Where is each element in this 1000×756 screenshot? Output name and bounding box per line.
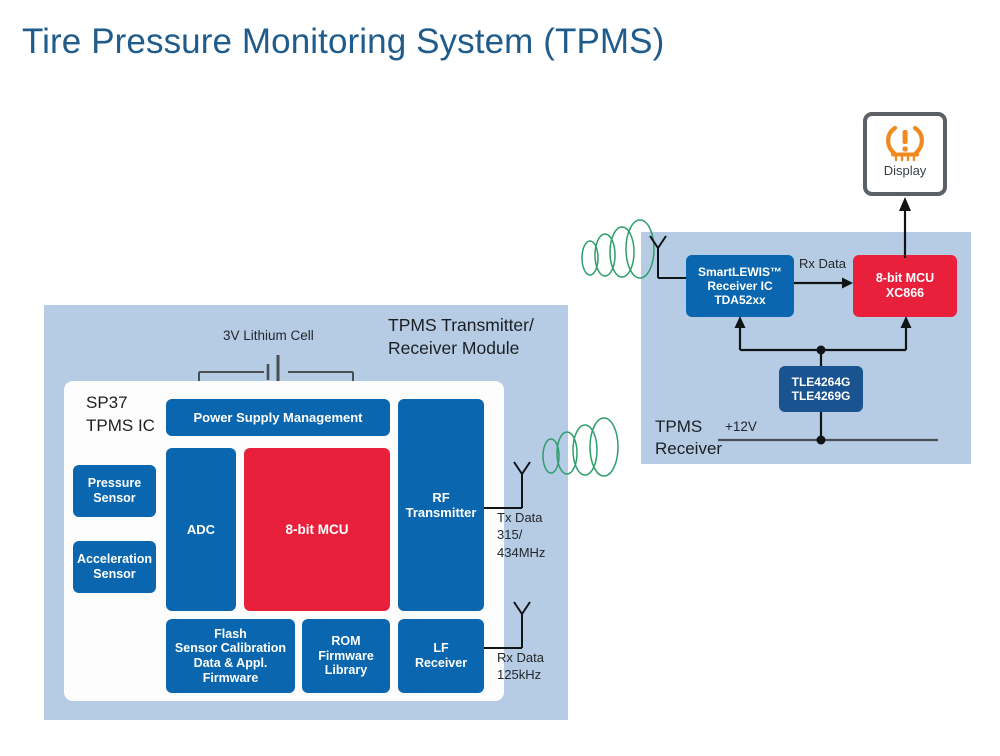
power-supply-label: Power Supply Management bbox=[193, 410, 362, 425]
sp37-label-line-1: SP37 bbox=[86, 392, 155, 415]
page-title: Tire Pressure Monitoring System (TPMS) bbox=[22, 22, 664, 62]
tx-data-line-3: 434MHz bbox=[497, 544, 545, 561]
block-power-supply-management[interactable]: Power Supply Management bbox=[166, 399, 390, 436]
sp37-label-line-2: TPMS IC bbox=[86, 415, 155, 438]
tx-data-line-1: Tx Data bbox=[497, 509, 545, 526]
receiver-antenna-icon bbox=[642, 232, 688, 290]
rom-line-2: Firmware bbox=[318, 649, 374, 664]
rx-data-line-1: Rx Data bbox=[497, 649, 544, 666]
rx-data-arrow-label: Rx Data bbox=[799, 256, 846, 272]
rx-data-line-2: 125kHz bbox=[497, 666, 544, 683]
tx-data-label: Tx Data 315/ 434MHz bbox=[497, 509, 545, 561]
block-transmitter-mcu[interactable]: 8-bit MCU bbox=[244, 448, 390, 611]
tx-data-line-2: 315/ bbox=[497, 526, 545, 543]
receiver-title-line-1: TPMS bbox=[655, 416, 722, 438]
sp37-ic-label: SP37 TPMS IC bbox=[86, 392, 155, 438]
smartlewis-line-3: TDA52xx bbox=[714, 293, 765, 307]
acceleration-sensor-line-2: Sensor bbox=[93, 567, 135, 582]
battery-label: 3V Lithium Cell bbox=[223, 328, 314, 345]
block-smartlewis-receiver-ic[interactable]: SmartLEWIS™ Receiver IC TDA52xx bbox=[686, 255, 794, 317]
display-box[interactable]: Display bbox=[863, 112, 947, 196]
receiver-panel-title: TPMS Receiver bbox=[655, 416, 722, 460]
rf-transmitter-line-2: Transmitter bbox=[406, 505, 477, 520]
flash-line-2: Sensor Calibration bbox=[175, 641, 286, 656]
acceleration-sensor-line-1: Acceleration bbox=[77, 552, 152, 567]
rx-data-label: Rx Data 125kHz bbox=[497, 649, 544, 684]
rf-transmitter-line-1: RF bbox=[432, 490, 449, 505]
rom-line-1: ROM bbox=[331, 634, 360, 649]
lithium-cell-icon bbox=[198, 352, 354, 384]
rx-data-arrow-icon bbox=[794, 276, 854, 290]
adc-label: ADC bbox=[187, 522, 215, 537]
pressure-sensor-line-1: Pressure bbox=[88, 476, 142, 491]
block-flash-memory[interactable]: Flash Sensor Calibration Data & Appl. Fi… bbox=[166, 619, 295, 693]
transmitter-title-line-1: TPMS Transmitter/ bbox=[388, 314, 534, 337]
flash-line-3: Data & Appl. bbox=[194, 656, 268, 671]
pressure-sensor-line-2: Sensor bbox=[93, 491, 135, 506]
smartlewis-line-2: Receiver IC bbox=[707, 279, 772, 293]
block-rom-firmware-library[interactable]: ROM Firmware Library bbox=[302, 619, 390, 693]
flash-line-4: Firmware bbox=[203, 671, 259, 686]
receiver-mcu-line-2: XC866 bbox=[886, 286, 924, 301]
mcu-to-display-arrow-icon bbox=[898, 196, 912, 258]
block-rf-transmitter[interactable]: RF Transmitter bbox=[398, 399, 484, 611]
transmitter-mcu-label: 8-bit MCU bbox=[286, 522, 349, 538]
receiver-mcu-line-1: 8-bit MCU bbox=[876, 271, 934, 286]
receiver-title-line-2: Receiver bbox=[655, 438, 722, 460]
block-adc[interactable]: ADC bbox=[166, 448, 236, 611]
block-acceleration-sensor[interactable]: Acceleration Sensor bbox=[73, 541, 156, 593]
transmitter-title-line-2: Receiver Module bbox=[388, 337, 534, 360]
lf-receiver-line-2: Receiver bbox=[415, 656, 467, 671]
flash-line-1: Flash bbox=[214, 627, 247, 642]
rom-line-3: Library bbox=[325, 663, 367, 678]
receiver-supply-label: +12V bbox=[725, 419, 757, 436]
lf-receiver-line-1: LF bbox=[433, 641, 448, 656]
block-lf-receiver[interactable]: LF Receiver bbox=[398, 619, 484, 693]
diagram-canvas: Tire Pressure Monitoring System (TPMS) S… bbox=[0, 0, 1000, 756]
smartlewis-line-1: SmartLEWIS™ bbox=[698, 265, 782, 279]
tx-antenna-waves-icon bbox=[540, 412, 626, 488]
block-receiver-mcu-xc866[interactable]: 8-bit MCU XC866 bbox=[853, 255, 957, 317]
block-pressure-sensor[interactable]: Pressure Sensor bbox=[73, 465, 156, 517]
display-label: Display bbox=[884, 163, 927, 178]
tpms-warning-icon bbox=[882, 124, 928, 162]
transmitter-panel-title: TPMS Transmitter/ Receiver Module bbox=[388, 314, 534, 361]
